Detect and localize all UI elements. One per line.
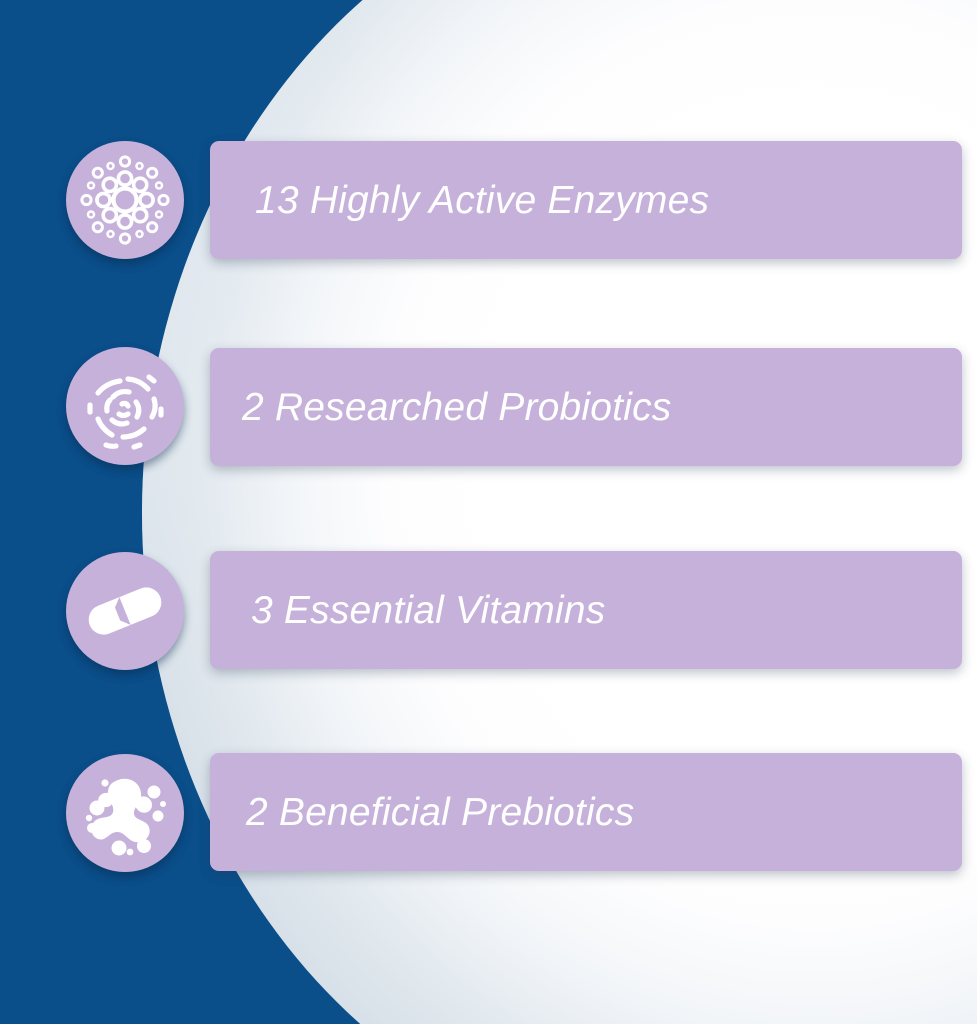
prebiotic-blob-glyph [78, 766, 172, 860]
probiotic-bacteria-glyph [78, 359, 172, 453]
feature-label-bar-vitamins: 3 Essential Vitamins [210, 551, 962, 669]
vitamin-capsule-glyph [79, 565, 171, 657]
feature-label-bar-prebiotics: 2 Beneficial Prebiotics [210, 753, 962, 871]
infographic-canvas: 13 Highly Active Enzymes [0, 0, 977, 1024]
feature-label-vitamins: 3 Essential Vitamins [251, 591, 605, 630]
feature-label-bar-enzymes: 13 Highly Active Enzymes [210, 141, 962, 259]
enzyme-molecule-icon [66, 141, 184, 259]
feature-label-prebiotics: 2 Beneficial Prebiotics [246, 793, 634, 832]
feature-label-bar-probiotics: 2 Researched Probiotics [210, 348, 962, 466]
feature-label-probiotics: 2 Researched Probiotics [242, 388, 672, 427]
enzyme-molecule-glyph [79, 154, 171, 246]
probiotic-bacteria-icon [66, 347, 184, 465]
vitamin-capsule-icon [66, 552, 184, 670]
prebiotic-blob-icon [66, 754, 184, 872]
feature-label-enzymes: 13 Highly Active Enzymes [255, 181, 709, 220]
